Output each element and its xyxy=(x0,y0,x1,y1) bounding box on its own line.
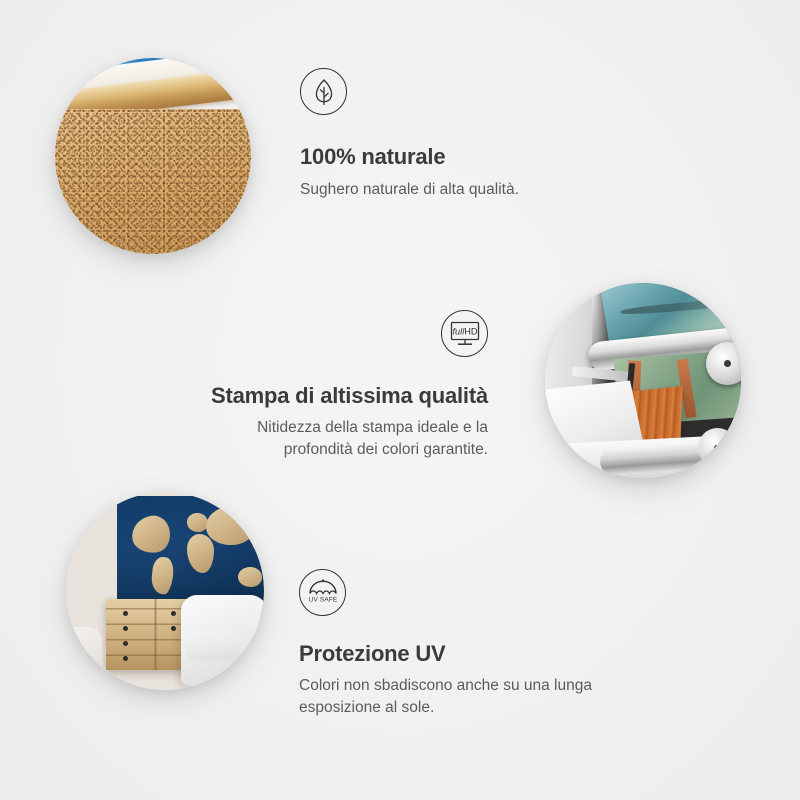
room-world-map-photo xyxy=(66,492,264,690)
feature-natural: 100% naturale Sughero naturale di alta q… xyxy=(300,68,519,201)
feature-uv-protection: UV SAFE Protezione UV Colori non sbadisc… xyxy=(299,569,592,720)
feature-natural-title: 100% naturale xyxy=(300,144,519,170)
uv-safe-umbrella-icon: UV SAFE xyxy=(299,569,346,616)
feature-print-title: Stampa di altissima qualità xyxy=(184,383,488,409)
feature-print-quality: fullHD Stampa di altissima qualità Nitid… xyxy=(184,310,488,462)
feature-highlights-page: 100% naturale Sughero naturale di alta q… xyxy=(0,0,800,800)
feature-uv-description: Colori non sbadiscono anche su una lunga… xyxy=(299,675,592,720)
fullhd-monitor-icon: fullHD xyxy=(441,310,488,357)
feature-uv-description-line2: esposizione al sole. xyxy=(299,699,434,716)
printing-machine-photo xyxy=(545,283,741,479)
feature-print-description-line1: Nitidezza della stampa ideale e la xyxy=(257,419,488,436)
svg-text:UV SAFE: UV SAFE xyxy=(308,596,337,603)
cork-texture-photo xyxy=(55,58,251,254)
svg-text:fullHD: fullHD xyxy=(452,326,477,336)
feature-natural-description: Sughero naturale di alta qualità. xyxy=(300,179,519,201)
feature-uv-description-line1: Colori non sbadiscono anche su una lunga xyxy=(299,677,592,694)
feature-uv-title: Protezione UV xyxy=(299,641,592,667)
feature-print-description: Nitidezza della stampa ideale e la profo… xyxy=(184,417,488,462)
feature-print-description-line2: profondità dei colori garantite. xyxy=(284,441,488,458)
leaf-icon xyxy=(300,68,347,115)
